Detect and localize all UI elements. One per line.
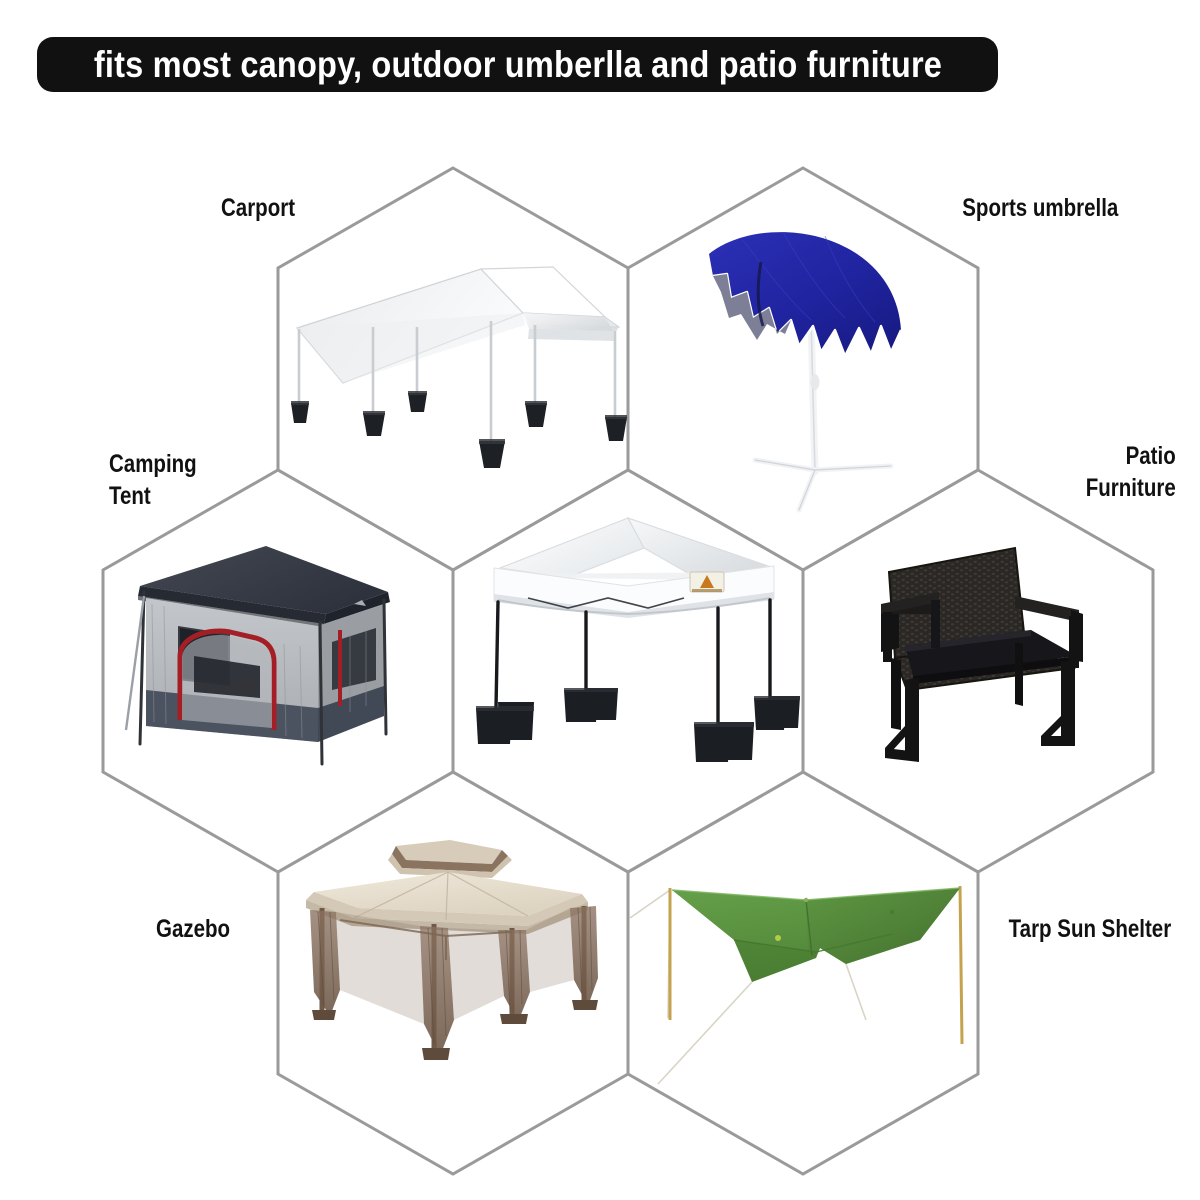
label-camping-tent: Camping Tent: [109, 448, 197, 512]
label-carport: Carport: [221, 192, 295, 224]
label-gazebo: Gazebo: [156, 913, 230, 945]
image-pop-up-canopy: [468, 512, 798, 792]
label-patio-furniture: Patio Furniture: [1086, 440, 1176, 504]
label-tarp-sun-shelter: Tarp Sun Shelter: [1008, 913, 1171, 945]
infographic-canvas: fits most canopy, outdoor umberlla and p…: [0, 0, 1200, 1200]
image-patio-furniture: [865, 530, 1100, 780]
image-gazebo: [296, 820, 616, 1080]
image-camping-tent: [118, 530, 398, 780]
image-sports-umbrella: [695, 222, 920, 522]
image-carport: [285, 255, 635, 485]
image-tarp-sun-shelter: [630, 860, 980, 1085]
label-sports-umbrella: Sports umbrella: [962, 192, 1118, 224]
